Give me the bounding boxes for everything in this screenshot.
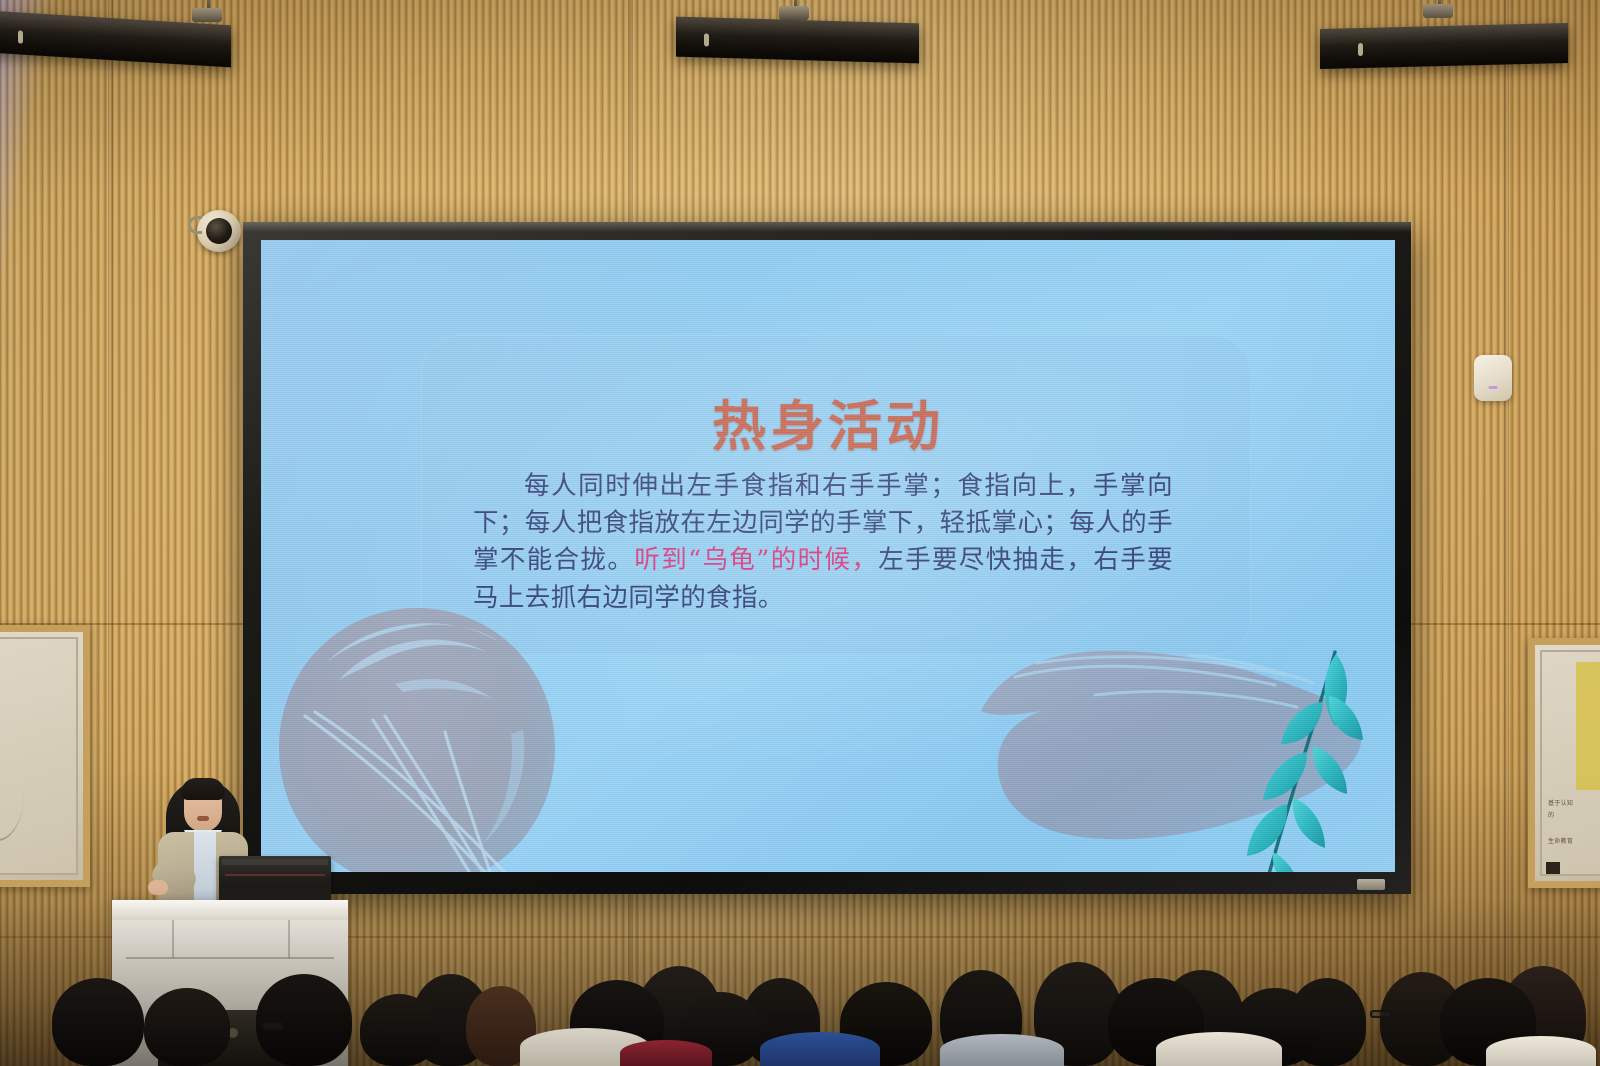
poster-text-line: 基于认知	[1548, 800, 1573, 809]
projection-display-bezel: 热身活动 每人同时伸出左手食指和右手手掌；食指向上，手掌向下；每人把食指放在左边…	[243, 222, 1411, 894]
audience-head	[52, 978, 144, 1066]
lecture-hall-photo: 基于认知 的 生命教育	[0, 0, 1600, 1066]
wall-joint	[1504, 0, 1509, 1066]
audience-shoulders	[1486, 1036, 1596, 1066]
light-indicator-led	[704, 33, 709, 46]
dome-security-camera	[197, 210, 241, 252]
light-mount	[192, 8, 222, 22]
poster-text-line: 生命教育	[1548, 838, 1573, 847]
camera-mount-arm	[188, 216, 202, 234]
access-point-led	[1489, 386, 1498, 389]
display-brand-logo	[1357, 879, 1385, 890]
poster-footer-mark	[1546, 862, 1560, 874]
light-bar-face	[676, 17, 919, 64]
presenter-hair-fringe	[181, 778, 225, 800]
slide-body-text: 每人同时伸出左手食指和右手手掌；食指向上，手掌向下；每人把食指放在左边同学的手掌…	[473, 468, 1173, 617]
audience-head	[256, 974, 352, 1066]
audience	[0, 936, 1600, 1066]
presenter-mouth	[197, 816, 209, 821]
audience-glasses	[1370, 1010, 1392, 1018]
whiteboard-panel-left	[0, 625, 90, 887]
audience-glasses	[262, 1022, 284, 1030]
panel-surface	[0, 637, 78, 875]
brush-fan-lines-icon	[301, 710, 591, 872]
laptop-lid	[222, 859, 328, 865]
presenter-hand	[148, 880, 168, 895]
lectern-top-surface	[112, 900, 348, 920]
poster-panel-right: 基于认知 的 生命教育	[1528, 638, 1600, 888]
audience-head	[144, 988, 230, 1066]
body-segment-highlight: 听到“乌龟”的时候，	[634, 545, 878, 575]
laptop-screen-glare	[225, 874, 325, 876]
poster-image-block	[1576, 662, 1600, 790]
leaf-branch-icon	[1215, 640, 1365, 872]
slide-title: 热身活动	[261, 382, 1395, 461]
panel-sketch	[0, 723, 24, 841]
audience-shoulders	[940, 1034, 1064, 1066]
bezel-highlight	[243, 222, 1411, 232]
light-indicator-led	[18, 30, 23, 43]
light-mount	[1423, 4, 1453, 18]
audience-shoulders	[1156, 1032, 1282, 1066]
audience-shoulders	[620, 1040, 712, 1066]
audience-head	[360, 994, 438, 1066]
ceiling-light-bar-right	[1320, 23, 1568, 69]
wireless-access-point	[1474, 355, 1512, 401]
light-mount	[779, 6, 809, 20]
light-indicator-led	[1358, 43, 1363, 56]
poster-text-line: 的	[1548, 812, 1554, 821]
audience-shoulders	[760, 1032, 880, 1066]
panel-surface: 基于认知 的 生命教育	[1540, 650, 1600, 876]
presentation-slide: 热身活动 每人同时伸出左手食指和右手手掌；食指向上，手掌向下；每人把食指放在左边…	[261, 240, 1395, 872]
ceiling-light-bar-center	[676, 17, 919, 64]
